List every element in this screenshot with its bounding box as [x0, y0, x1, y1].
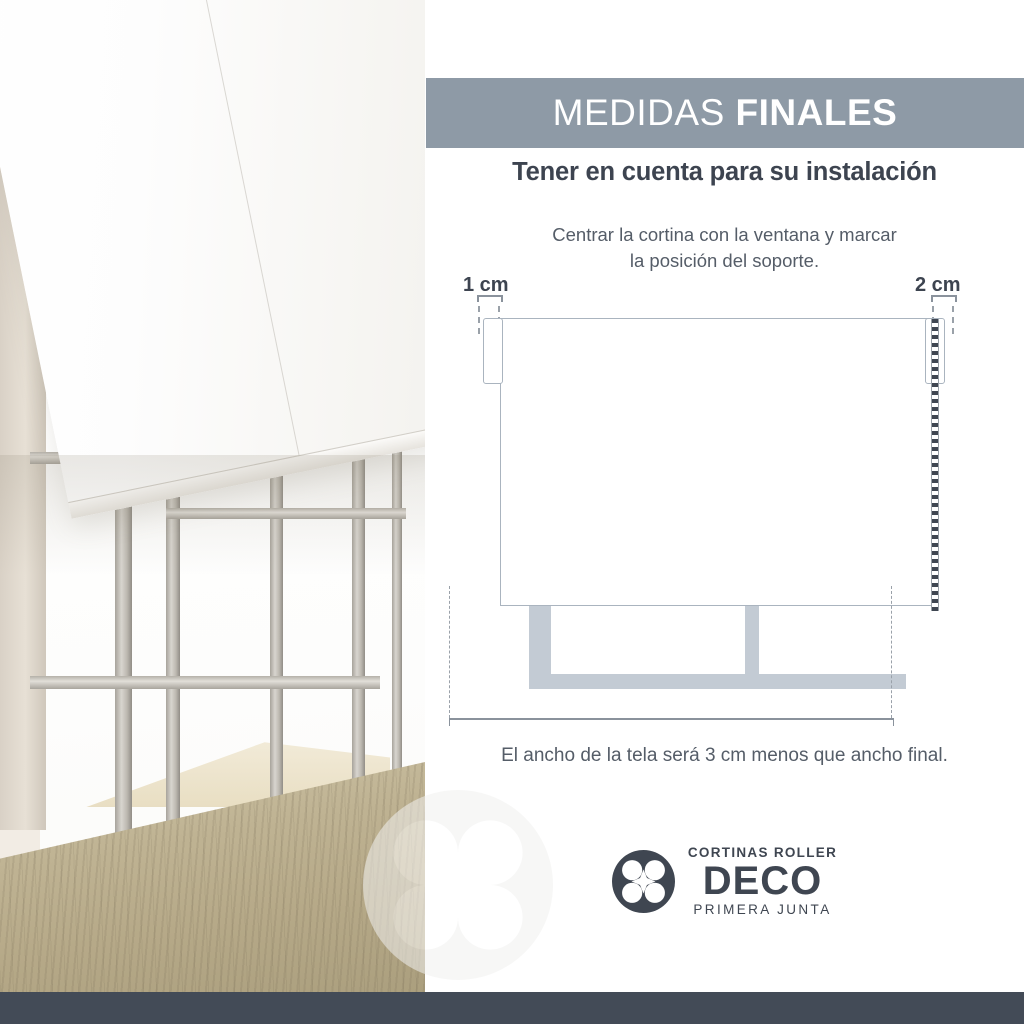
logo-line-main: DECO [703, 861, 823, 901]
brand-logo: CORTINAS ROLLER DECO PRIMERA JUNTA [425, 846, 1024, 916]
fabric-width-note: El ancho de la tela será 3 cm menos que … [425, 745, 1024, 767]
bracket-left-icon [483, 318, 503, 384]
page-title: MEDIDAS FINALES [553, 92, 898, 134]
logo-mark-icon [612, 850, 675, 913]
right-measure-bar [931, 295, 957, 302]
bead-chain-icon [931, 319, 939, 611]
content-panel: MEDIDAS FINALES Tener en cuenta para su … [425, 0, 1024, 992]
dim-extension-left [449, 586, 450, 718]
left-measure-label: 1 cm [463, 274, 509, 297]
logo-wordmark: CORTINAS ROLLER DECO PRIMERA JUNTA [688, 846, 837, 916]
leader-right-2 [952, 306, 954, 334]
installation-diagram: 1 cm 2 cm [425, 286, 1024, 736]
product-photo [0, 0, 425, 992]
poster-root: MEDIDAS FINALES Tener en cuenta para su … [0, 0, 1024, 1024]
photo-fabric-seam [190, 0, 303, 472]
left-measure-bar [477, 295, 503, 302]
dim-extension-right [891, 586, 892, 718]
footer-bar [0, 992, 1024, 1024]
lead-line-1: Centrar la cortina con la ventana y marc… [425, 222, 1024, 248]
width-dimension-line [449, 718, 894, 726]
roller-blind-body [500, 318, 933, 606]
lead-line-2: la posición del soporte. [425, 248, 1024, 274]
photo-rail-a [30, 676, 380, 689]
lead-text: Centrar la cortina con la ventana y marc… [425, 222, 1024, 275]
title-band: MEDIDAS FINALES [426, 78, 1024, 148]
photo-rail-c [166, 508, 406, 519]
leader-left-1 [478, 306, 480, 334]
title-word-bold: FINALES [736, 92, 898, 133]
title-word-light: MEDIDAS [553, 92, 725, 133]
logo-line-bottom: PRIMERA JUNTA [693, 903, 831, 917]
logo-line-top: CORTINAS ROLLER [688, 846, 837, 860]
subtitle: Tener en cuenta para su instalación [425, 158, 1024, 187]
photo-roller-fabric [0, 0, 425, 519]
